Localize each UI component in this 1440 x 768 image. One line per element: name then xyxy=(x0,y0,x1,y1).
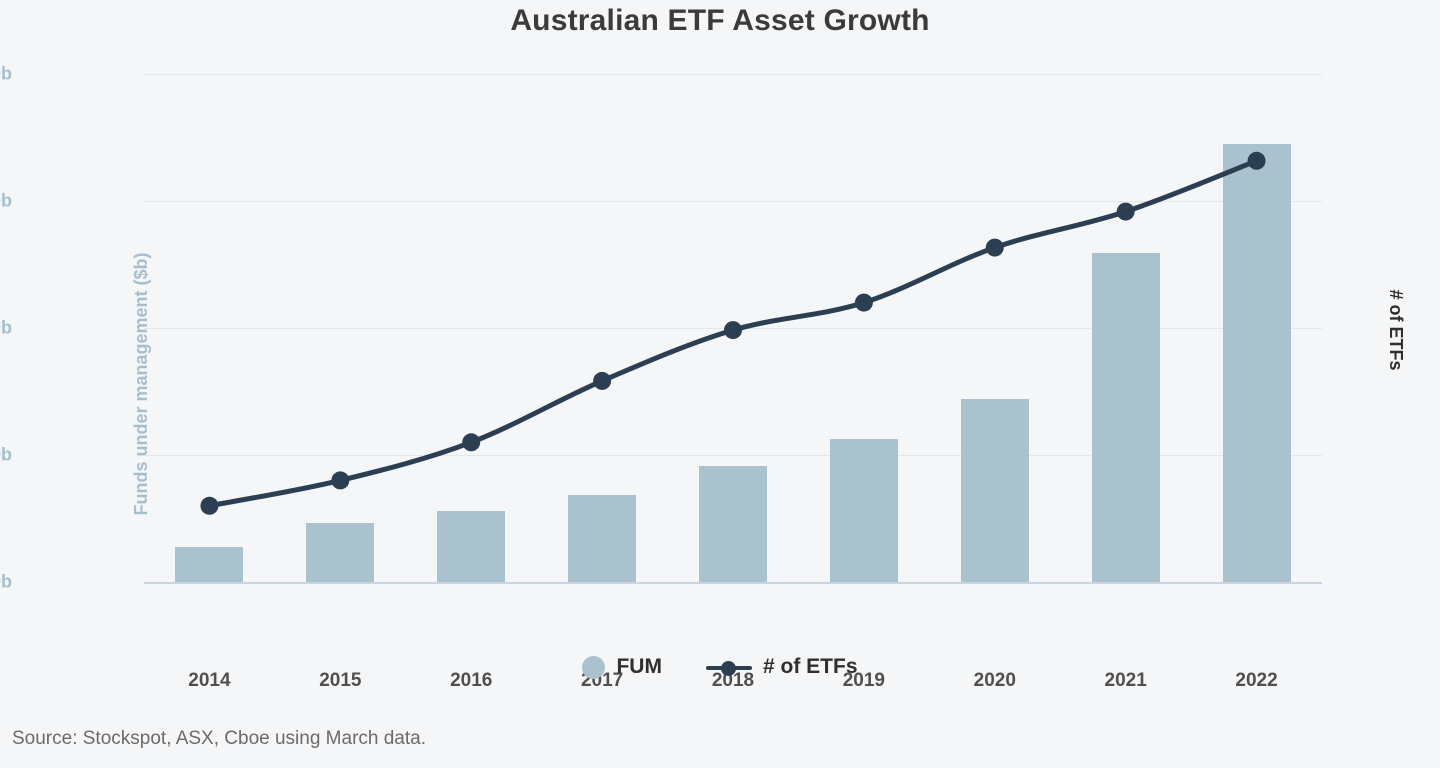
y-axis-tick-left: $80b xyxy=(0,318,12,339)
legend-item-num-etfs[interactable]: # of ETFs xyxy=(706,655,858,679)
bar-2017[interactable] xyxy=(568,495,636,582)
source-note: Source: Stockspot, ASX, Cboe using March… xyxy=(12,728,426,750)
bar-2021[interactable] xyxy=(1092,253,1160,582)
gridline xyxy=(144,74,1322,75)
legend-item-fum[interactable]: FUM xyxy=(582,655,662,679)
bar-2022[interactable] xyxy=(1223,144,1291,582)
plot-area: $0b$40b$80b$120b$160b6012018024030020142… xyxy=(144,74,1322,582)
y-axis-tick-left: $0b xyxy=(0,572,12,593)
line-marker-icon xyxy=(706,656,752,679)
chart-legend: FUM # of ETFs xyxy=(0,655,1440,679)
bar-2016[interactable] xyxy=(437,511,505,582)
bar-2014[interactable] xyxy=(175,547,243,582)
legend-label-num-etfs: # of ETFs xyxy=(763,655,858,679)
page-title: Australian ETF Asset Growth xyxy=(0,4,1440,38)
y-axis-tick-left: $40b xyxy=(0,445,12,466)
y-axis-tick-left: $120b xyxy=(0,191,12,212)
y-axis-tick-left: $160b xyxy=(0,64,12,85)
axis-baseline xyxy=(144,582,1322,584)
y-axis-title-right: # of ETFs xyxy=(1385,289,1406,370)
chart-page: Australian ETF Asset Growth Funds under … xyxy=(0,0,1440,768)
circle-marker-icon xyxy=(582,656,605,679)
bar-2020[interactable] xyxy=(961,399,1029,582)
legend-label-fum: FUM xyxy=(616,655,662,679)
bar-2019[interactable] xyxy=(830,439,898,582)
bar-2018[interactable] xyxy=(699,466,767,582)
bar-2015[interactable] xyxy=(306,523,374,582)
gridline xyxy=(144,201,1322,202)
